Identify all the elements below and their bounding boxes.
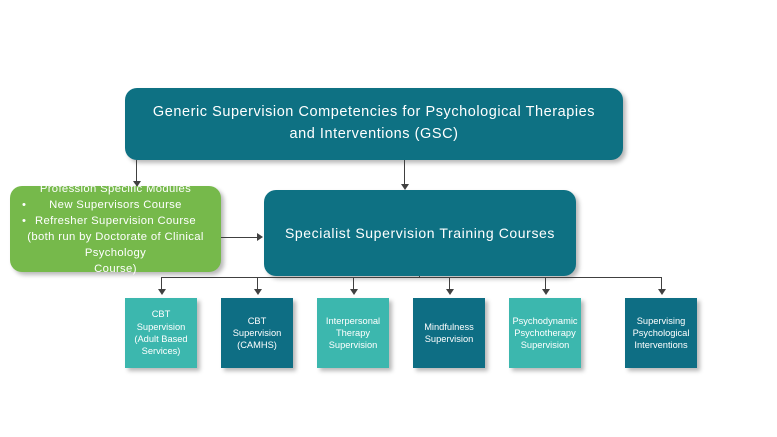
course-label: CBT Supervision (Adult Based Services)	[128, 308, 194, 357]
course-label: Psychodynamic Psychotherapy Supervision	[512, 315, 578, 352]
connector-drop-6-arrowhead	[658, 289, 666, 295]
profession-item-2-label: Refresher Supervision Course	[35, 215, 196, 227]
connector-course-bus	[161, 277, 661, 278]
node-specialist-label: Specialist Supervision Training Courses	[285, 225, 555, 241]
course-label: Supervising Psychological Interventions	[628, 315, 694, 352]
connector-drop-5-arrowhead	[542, 289, 550, 295]
connector-drop-4-arrowhead	[446, 289, 454, 295]
node-course-cbt-supervision-camhs: CBT Supervision (CAMHS)	[221, 298, 293, 368]
node-course-cbt-supervision-adult-based-services: CBT Supervision (Adult Based Services)	[125, 298, 197, 368]
course-label: Interpersonal Therapy Supervision	[320, 315, 386, 352]
node-course-psychodynamic-psychotherapy-supervision: Psychodynamic Psychotherapy Supervision	[509, 298, 581, 368]
profession-item-2-row: • Refresher Supervision Course	[14, 213, 217, 229]
connector-drop-2-arrowhead	[254, 289, 262, 295]
bullet-icon: •	[22, 197, 26, 213]
course-label: CBT Supervision (CAMHS)	[224, 315, 290, 352]
node-gsc-label: Generic Supervision Competencies for Psy…	[147, 102, 601, 146]
profession-note-line-3: Course)	[14, 261, 217, 277]
profession-note-line-1: (both run by Doctorate of Clinical	[14, 229, 217, 245]
node-course-interpersonal-therapy-supervision: Interpersonal Therapy Supervision	[317, 298, 389, 368]
course-label: Mindfulness Supervision	[416, 321, 482, 346]
profession-note-line-2: Psychology	[14, 245, 217, 261]
connector-gsc-to-profession-line	[136, 160, 137, 183]
node-specialist-supervision-training-courses: Specialist Supervision Training Courses	[264, 190, 576, 276]
node-profession-specific-modules: Profession Specific Modules • New Superv…	[10, 186, 221, 272]
bullet-icon: •	[22, 213, 26, 229]
profession-item-1-label: New Supervisors Course	[49, 199, 182, 211]
profession-heading: Profession Specific Modules	[14, 181, 217, 197]
connector-drop-3-arrowhead	[350, 289, 358, 295]
connector-drop-1-arrowhead	[158, 289, 166, 295]
diagram-canvas: Generic Supervision Competencies for Psy…	[0, 0, 777, 437]
connector-gsc-to-specialist-line	[404, 160, 405, 186]
profession-item-1-row: • New Supervisors Course	[14, 197, 217, 213]
node-course-supervising-psychological-interventions: Supervising Psychological Interventions	[625, 298, 697, 368]
node-generic-supervision-competencies: Generic Supervision Competencies for Psy…	[125, 88, 623, 160]
connector-profession-to-specialist-arrowhead	[257, 233, 263, 241]
node-course-mindfulness-supervision: Mindfulness Supervision	[413, 298, 485, 368]
connector-profession-to-specialist-line	[221, 237, 258, 238]
